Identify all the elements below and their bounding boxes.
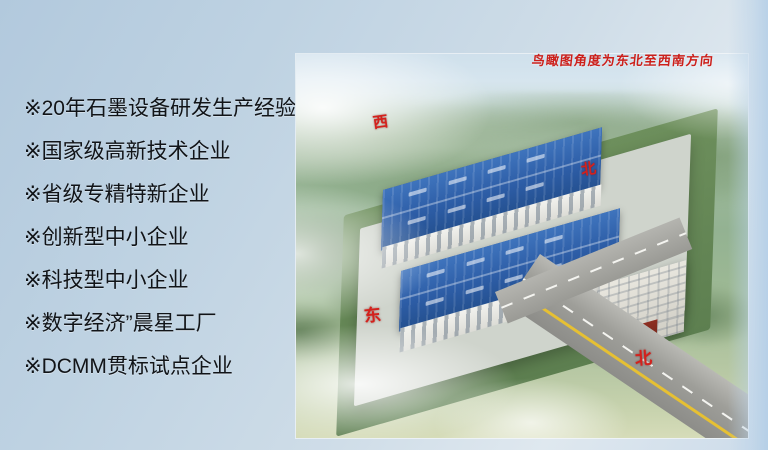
aerial-view-caption: 鸟瞰图角度为东北至西南方向	[531, 50, 715, 69]
direction-mark-south: 北	[634, 349, 652, 367]
direction-mark-east: 东	[363, 307, 382, 326]
company-credentials-list: ※20年石墨设备研发生产经验 ※国家级高新技术企业 ※省级专精特新企业 ※创新型…	[24, 96, 304, 397]
list-item: ※国家级高新技术企业	[24, 139, 304, 164]
aerial-rendering-image: 西 北 东 北	[296, 54, 748, 438]
list-item: ※省级专精特新企业	[24, 182, 304, 207]
slide-canvas: ※20年石墨设备研发生产经验 ※国家级高新技术企业 ※省级专精特新企业 ※创新型…	[0, 0, 768, 450]
list-item: ※DCMM贯标试点企业	[24, 354, 304, 379]
list-item: ※20年石墨设备研发生产经验	[24, 96, 304, 121]
list-item: ※创新型中小企业	[24, 225, 304, 250]
list-item: ※数字经济”晨星工厂	[24, 311, 304, 336]
list-item: ※科技型中小企业	[24, 268, 304, 293]
direction-mark-north: 北	[580, 161, 597, 178]
direction-mark-west: 西	[372, 114, 389, 131]
